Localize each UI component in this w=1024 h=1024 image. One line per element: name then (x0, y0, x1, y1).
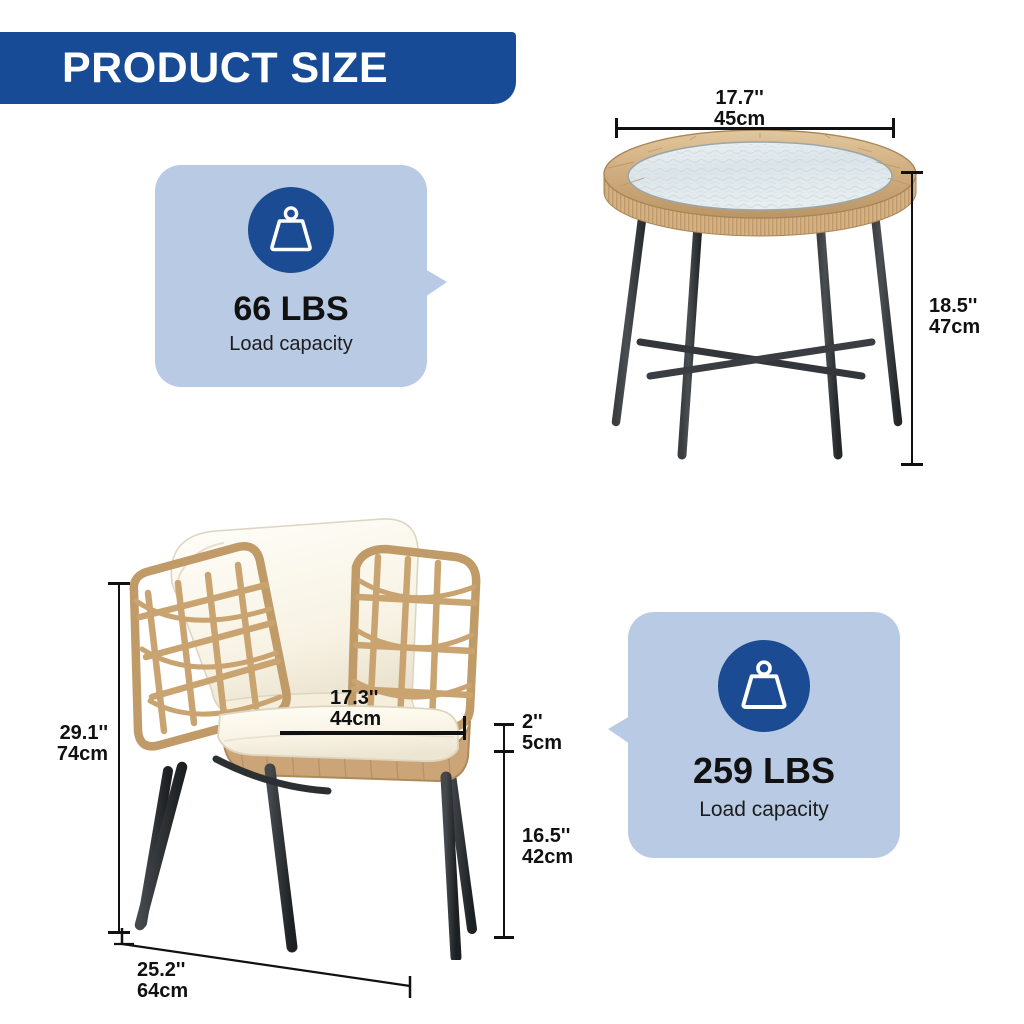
dim-seat-height-imperial: 16.5'' (522, 826, 573, 847)
dimension-chair-depth-label: 25.2'' 64cm (137, 960, 188, 1002)
badge-tail (608, 716, 630, 744)
dim-seat-height-metric: 42cm (522, 847, 573, 868)
badge-tail (425, 269, 447, 297)
infographic-canvas: PRODUCT SIZE (0, 0, 1024, 1024)
dim-table-height-imperial: 18.5'' (929, 296, 980, 317)
dim-chair-height-metric: 74cm (36, 744, 108, 765)
dim-table-width-metric: 45cm (714, 109, 765, 130)
weight-icon-circle (718, 640, 810, 732)
header-banner: PRODUCT SIZE (0, 32, 516, 104)
badge-value: 259 LBS (628, 750, 900, 792)
badge-caption: Load capacity (628, 798, 900, 822)
weight-icon (265, 205, 317, 255)
dim-chair-height-imperial: 29.1'' (36, 723, 108, 744)
badge-chair-capacity[interactable]: 259 LBS Load capacity (628, 612, 900, 858)
weight-icon-circle (248, 187, 334, 273)
weight-icon (736, 659, 792, 713)
side-table-illustration (600, 130, 920, 480)
dim-chair-depth-metric: 64cm (137, 981, 188, 1002)
dim-cushion-metric: 5cm (522, 733, 562, 754)
dim-seat-width-metric: 44cm (330, 709, 381, 730)
dim-table-width-imperial: 17.7'' (714, 88, 765, 109)
dim-seat-width-imperial: 17.3'' (330, 688, 381, 709)
dim-chair-depth-imperial: 25.2'' (137, 960, 188, 981)
badge-caption: Load capacity (155, 333, 427, 356)
dim-table-height-metric: 47cm (929, 317, 980, 338)
page-title: PRODUCT SIZE (62, 44, 388, 93)
dim-cushion-imperial: 2'' (522, 712, 562, 733)
badge-value: 66 LBS (155, 290, 427, 329)
badge-table-capacity[interactable]: 66 LBS Load capacity (155, 165, 427, 387)
